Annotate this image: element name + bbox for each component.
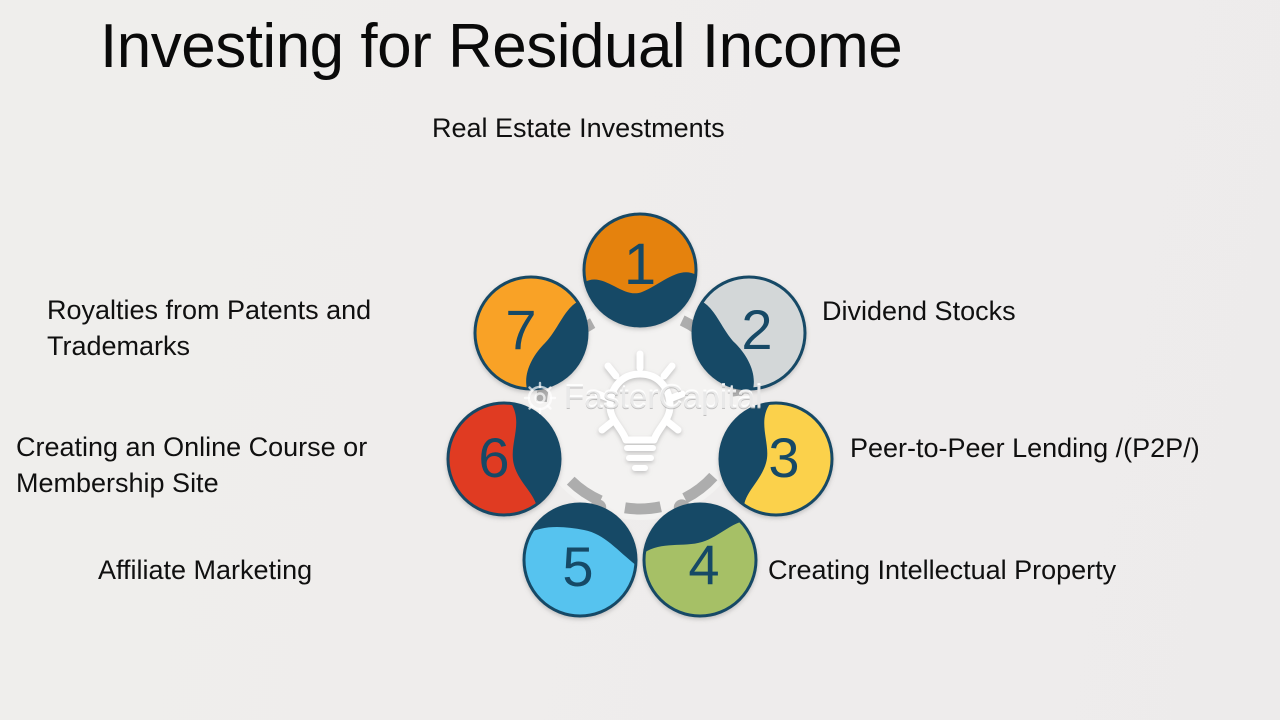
node-label-1: Real Estate Investments xyxy=(432,110,725,146)
node-number-5: 5 xyxy=(562,535,593,598)
node-label-3: Peer-to-Peer Lending /(P2P/) xyxy=(850,430,1200,466)
node-number-2: 2 xyxy=(741,298,772,361)
node-label-7: Royalties from Patents and Trademarks xyxy=(47,292,447,364)
node-number-7: 7 xyxy=(505,298,536,361)
node-label-6: Creating an Online Course or Membership … xyxy=(16,429,446,501)
node-number-6: 6 xyxy=(478,426,509,489)
node-number-4: 4 xyxy=(688,533,719,596)
node-number-1: 1 xyxy=(624,232,656,297)
circular-process-diagram: 1 2 3 xyxy=(420,190,860,630)
slide-canvas: Investing for Residual Income Real Estat… xyxy=(0,0,1280,720)
node-label-5: Affiliate Marketing xyxy=(98,552,312,588)
page-title: Investing for Residual Income xyxy=(100,8,902,86)
node-number-3: 3 xyxy=(768,426,799,489)
